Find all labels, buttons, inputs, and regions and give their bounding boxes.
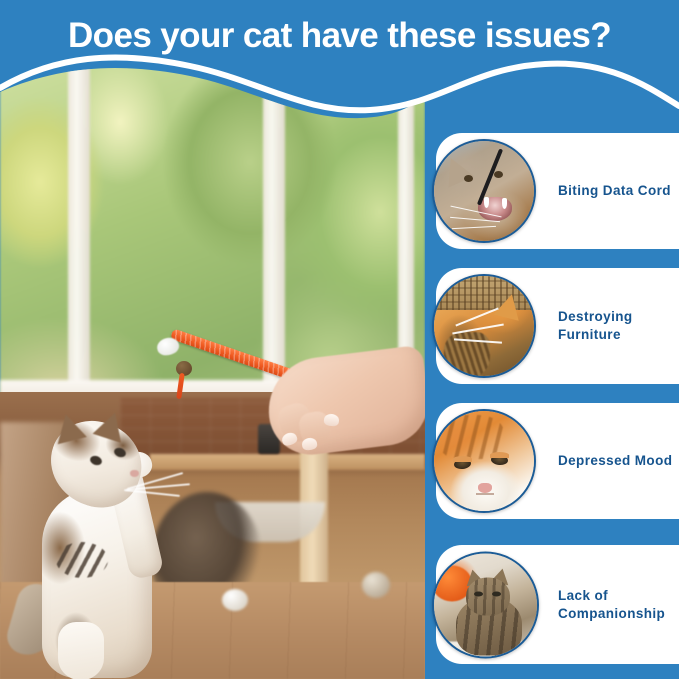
lonely-cat-photo [434,553,537,656]
cat-destroying-furniture-photo [434,276,534,376]
cat-eyelid [490,452,509,458]
issue-card-lack-of-companionship[interactable]: Lack of Companionship [436,545,679,664]
cat-whisker [452,226,496,230]
calico-kitten [18,414,208,679]
cat-biting-cord-photo [434,141,534,241]
issue-thumbnail-lack-of-companionship [432,551,539,658]
poster-root: Does your cat have these issues? [0,0,679,679]
window-mullion [263,62,285,392]
toy-ball [362,572,390,598]
issue-card-destroying-furniture[interactable]: Destroying Furniture [436,268,679,384]
issue-card-depressed-mood[interactable]: Depressed Mood [436,403,679,519]
cat-eye [474,591,483,596]
toy-ball [222,589,248,611]
cat-eye [464,175,473,182]
window-mullion [68,62,90,392]
window-mullion [398,62,414,392]
issue-card-biting-data-cord[interactable]: Biting Data Cord [436,133,679,249]
cat-eye [494,171,503,178]
issues-panel: Biting Data Cord Destroying Furniture [425,0,679,679]
fingernail [323,413,339,427]
hero-photo [0,62,425,679]
sad-cat-face-photo [434,411,534,511]
cat-eye [492,591,501,596]
page-title: Does your cat have these issues? [0,14,679,58]
cat-fang [502,198,507,209]
cat-mouth [476,493,494,503]
issue-thumbnail-depressed-mood [432,409,536,513]
issue-thumbnail-biting-data-cord [432,139,536,243]
issue-thumbnail-destroying-furniture [432,274,536,378]
kitten-markings [56,542,108,578]
hero-photo-art [0,62,425,679]
issue-label-biting-data-cord: Biting Data Cord [558,182,675,200]
cat-ear [493,291,524,321]
issue-label-depressed-mood: Depressed Mood [558,452,675,470]
cat-whisker [455,307,498,326]
cat-nose [478,483,492,493]
kitten-leg [58,622,104,679]
cat-head [466,577,510,615]
cat-ear [438,152,474,187]
kitten-nose [130,470,139,477]
issue-label-destroying-furniture: Destroying Furniture [558,308,675,344]
issue-label-lack-of-companionship: Lack of Companionship [558,587,675,623]
cat-eyelid [453,456,472,462]
cat-fang [484,197,489,208]
